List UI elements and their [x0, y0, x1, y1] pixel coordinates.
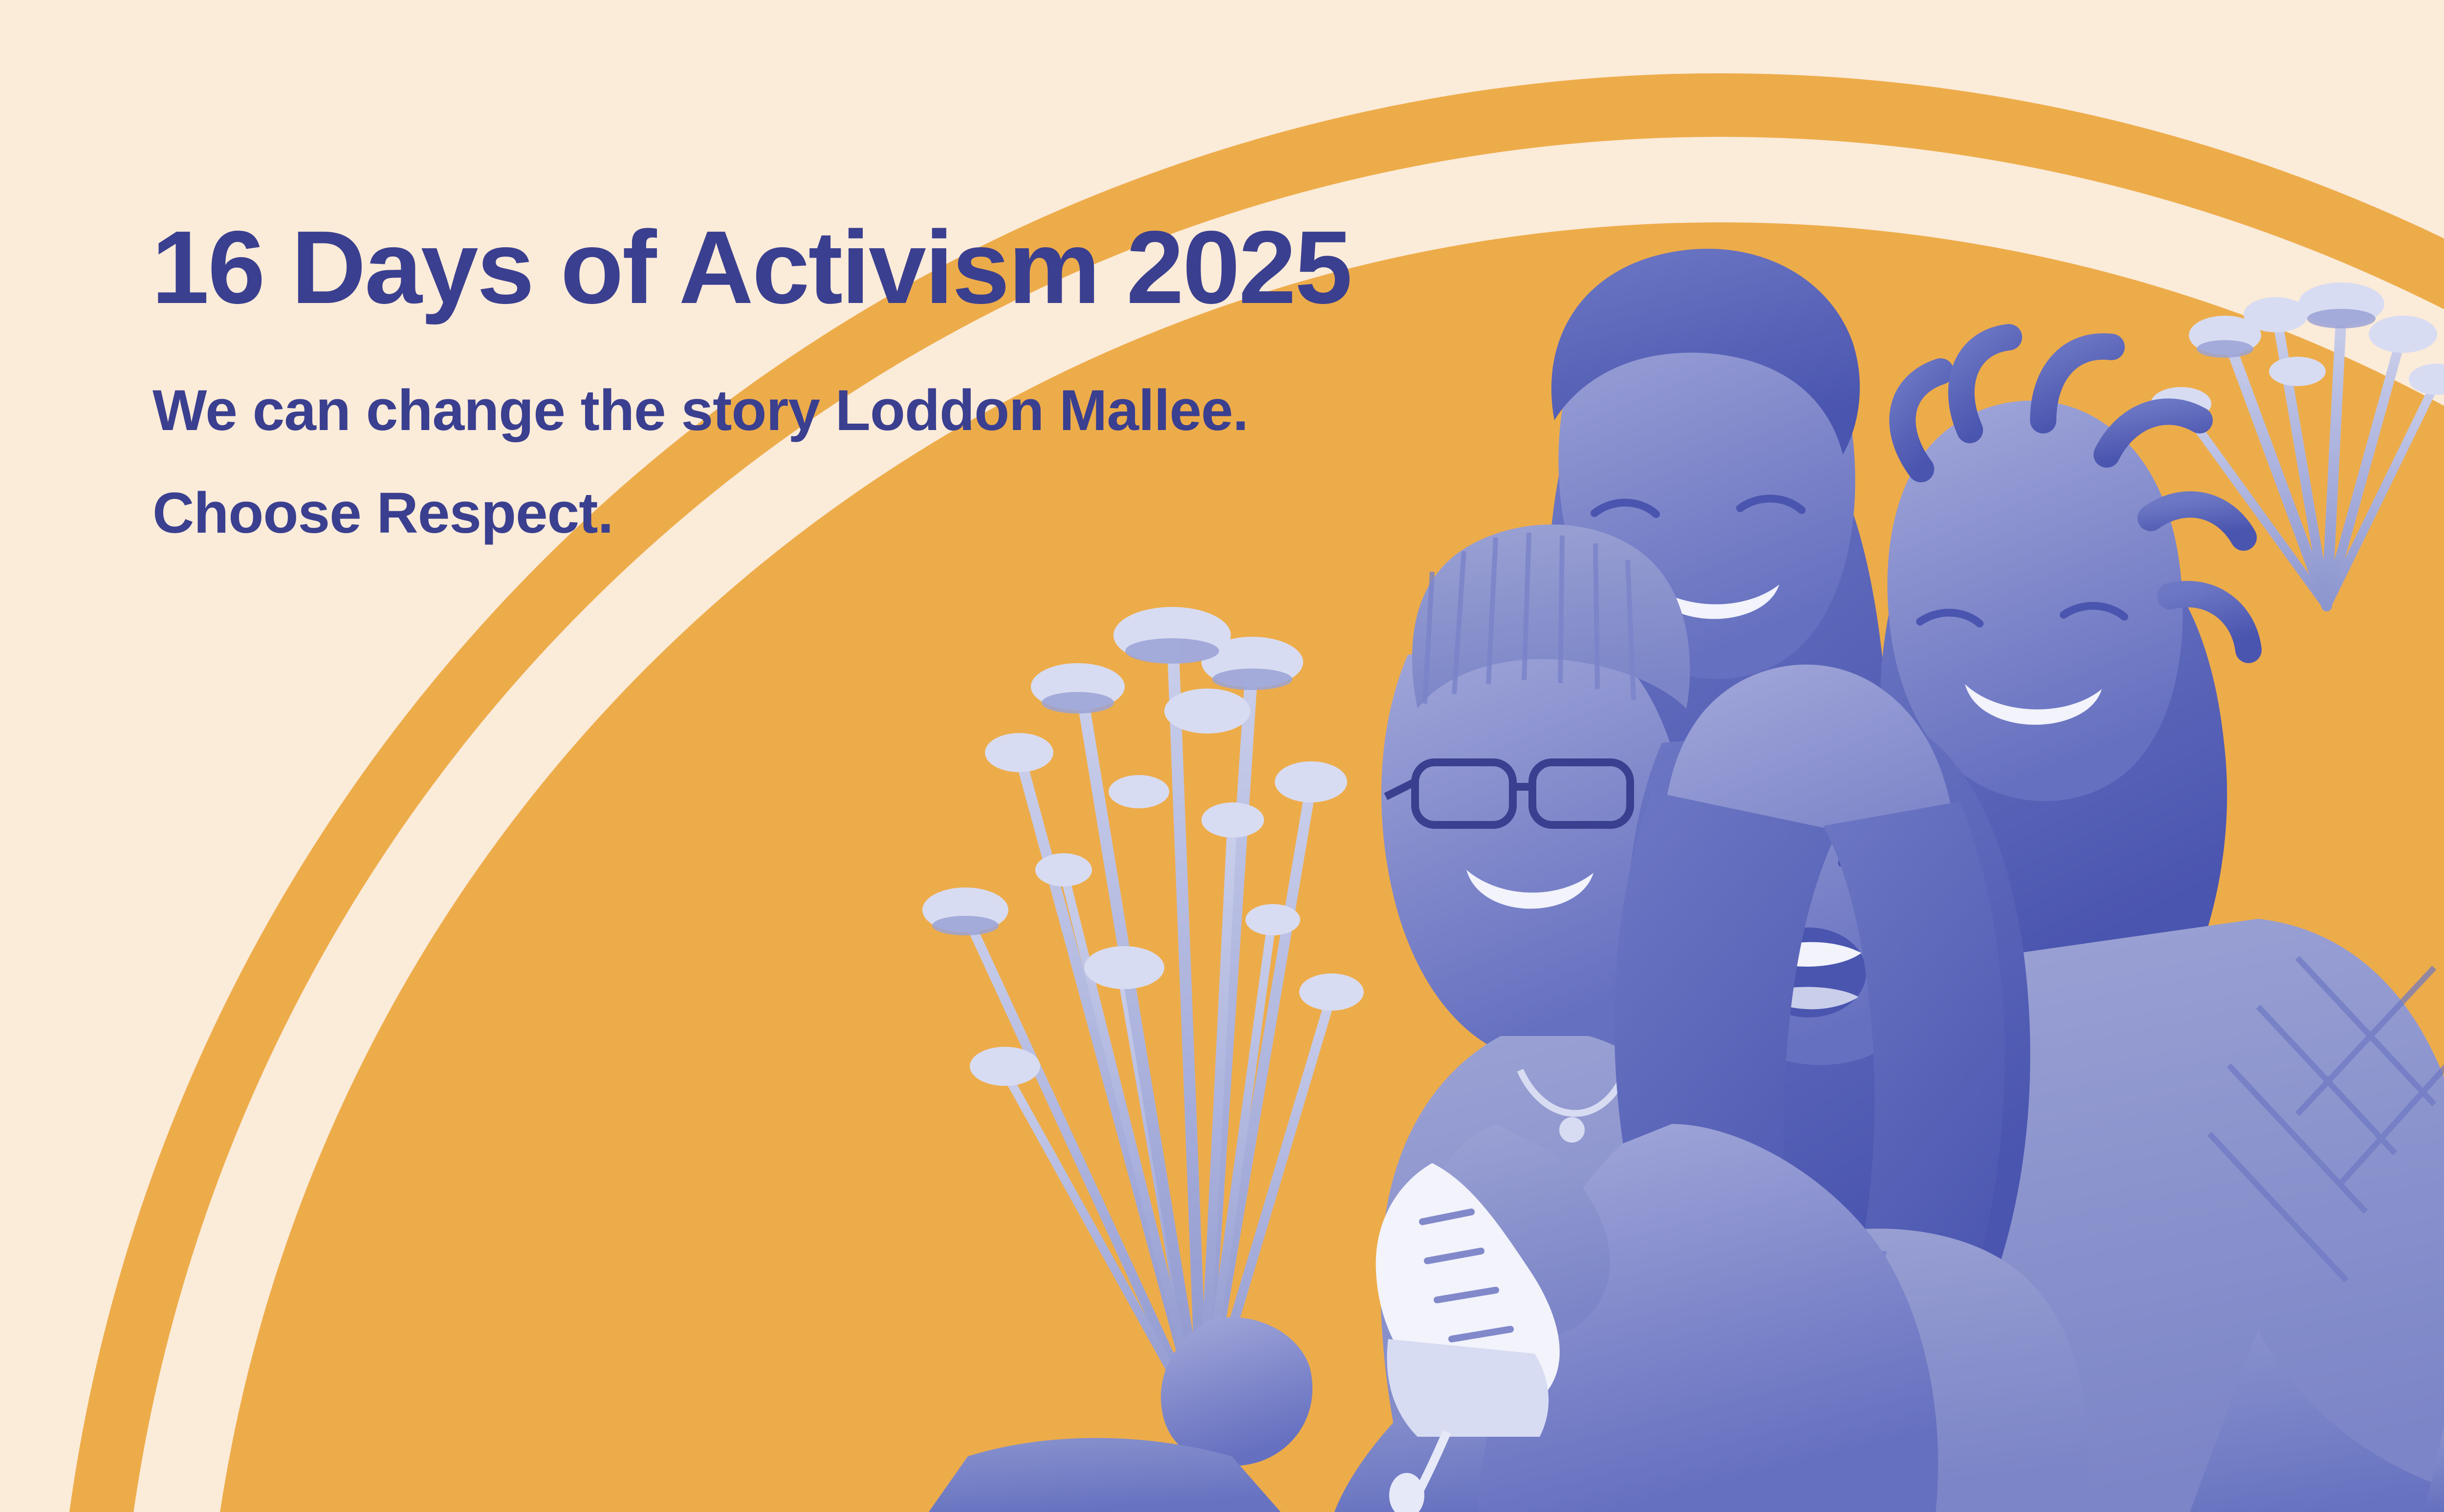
tagline-line-2: Choose Respect. — [153, 481, 613, 545]
tagline-line-1: We can change the story Loddon Mallee. — [153, 378, 1248, 443]
banner-artwork: 16 Days of Activism 2025 We can change t… — [0, 0, 2444, 1512]
campaign-banner: 16 Days of Activism 2025 We can change t… — [0, 0, 2444, 1512]
page-title: 16 Days of Activism 2025 — [152, 209, 1351, 325]
